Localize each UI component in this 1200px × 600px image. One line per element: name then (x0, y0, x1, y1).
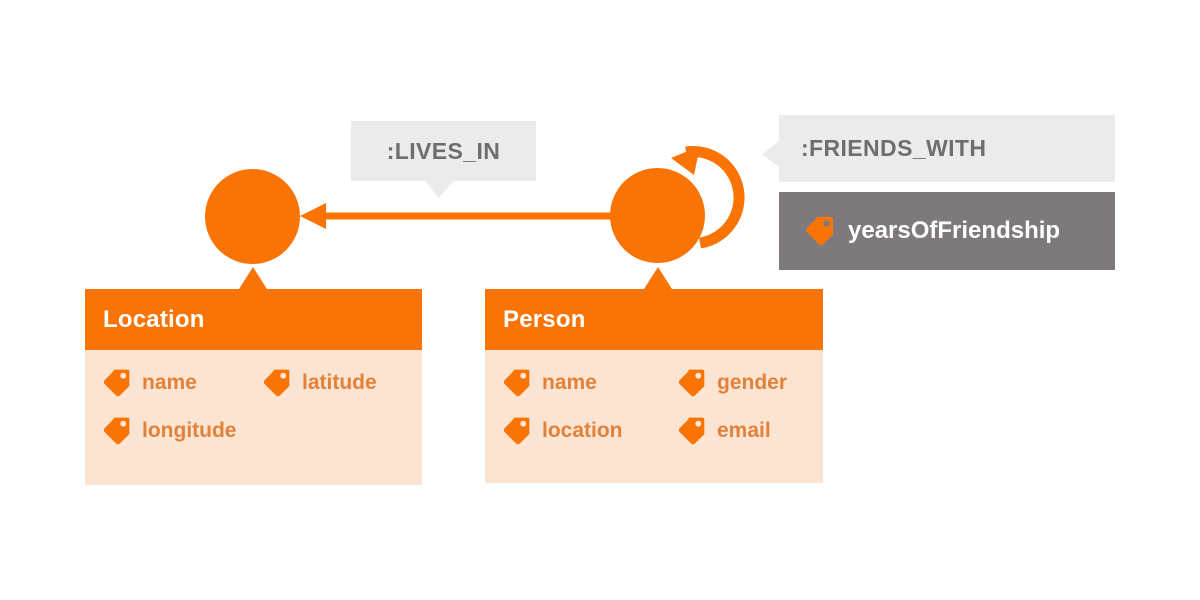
property-row: location email (499, 414, 809, 448)
lives-in-edge (300, 203, 615, 229)
tag-icon (499, 366, 533, 400)
entity-card-person[interactable]: Person name gender (485, 289, 823, 483)
property-row: name gender (499, 366, 809, 400)
relationship-label-friends-with: :FRIENDS_WITH (779, 115, 1115, 182)
location-card-notch (239, 267, 267, 289)
property-label: latitude (302, 371, 377, 395)
property-latitude[interactable]: latitude (259, 366, 377, 400)
callout-divider (779, 182, 1115, 192)
property-name[interactable]: name (99, 366, 259, 400)
entity-card-location[interactable]: Location name latitude (85, 289, 422, 485)
property-name[interactable]: name (499, 366, 674, 400)
person-card-title: Person (485, 289, 823, 350)
relationship-label-lives-in: :LIVES_IN (351, 121, 536, 181)
tag-icon (674, 414, 708, 448)
callout-tail-left-icon (762, 141, 779, 167)
tag-icon (674, 366, 708, 400)
tag-icon (259, 366, 293, 400)
property-row: longitude (99, 414, 408, 448)
callout-tail-down-icon (425, 181, 453, 198)
property-label: name (542, 371, 597, 395)
property-label: location (542, 419, 623, 443)
property-email[interactable]: email (674, 414, 771, 448)
property-gender[interactable]: gender (674, 366, 787, 400)
node-circle-person[interactable] (610, 168, 705, 263)
relationship-property-years-of-friendship[interactable]: yearsOfFriendship (779, 192, 1115, 270)
property-row: name latitude (99, 366, 408, 400)
relationship-property-label: yearsOfFriendship (848, 217, 1060, 245)
tag-icon (801, 213, 837, 249)
property-label: name (142, 371, 197, 395)
graph-data-model-diagram: Location name latitude (0, 0, 1200, 600)
property-longitude[interactable]: longitude (99, 414, 259, 448)
tag-icon (99, 366, 133, 400)
tag-icon (499, 414, 533, 448)
property-location[interactable]: location (499, 414, 674, 448)
arrow-left-icon (300, 203, 326, 229)
person-card-notch (644, 267, 672, 289)
property-label: longitude (142, 419, 236, 443)
person-properties: name gender location (485, 350, 823, 472)
property-label: email (717, 419, 771, 443)
relationship-callout-friends-with[interactable]: :FRIENDS_WITH yearsOfFriendship (779, 115, 1115, 270)
location-card-title: Location (85, 289, 422, 350)
relationship-callout-lives-in[interactable]: :LIVES_IN (351, 121, 536, 181)
node-circle-location[interactable] (205, 169, 300, 264)
property-label: gender (717, 371, 787, 395)
tag-icon (99, 414, 133, 448)
location-properties: name latitude longitude (85, 350, 422, 472)
